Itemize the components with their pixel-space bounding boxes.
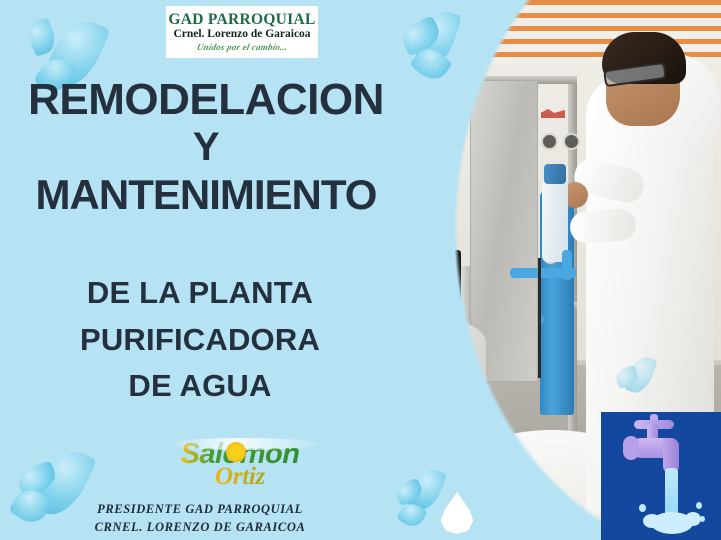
- water-splash-pool: [651, 512, 693, 534]
- page-subtitle: DE LA PLANTA PURIFICADORA DE AGUA: [0, 270, 400, 410]
- splash-blob: [15, 460, 60, 497]
- water-drop: [700, 516, 705, 522]
- panel-label: [541, 109, 565, 118]
- faucet-cap: [623, 436, 639, 460]
- title-line-1: REMODELACION: [28, 75, 384, 124]
- gad-logo: GAD PARROQUIAL Crnel. Lorenzo de Garaico…: [166, 6, 318, 58]
- title-line-3: MANTENIMIENTO: [0, 174, 412, 217]
- logo-title: GAD PARROQUIAL: [168, 12, 315, 28]
- blue-fitting: [562, 250, 572, 280]
- title-line-2: Y: [0, 127, 412, 168]
- subtitle-line-3: DE AGUA: [0, 363, 400, 410]
- sun-icon: [226, 442, 246, 462]
- poster-canvas: GAD PARROQUIAL Crnel. Lorenzo de Garaico…: [0, 0, 721, 540]
- subtitle-line-1: DE LA PLANTA: [0, 270, 400, 317]
- signature-last-name: Ortiz: [140, 463, 340, 491]
- subtitle-line-2: PURIFICADORA: [0, 317, 400, 364]
- white-tank: [400, 318, 486, 468]
- caption: PRESIDENTE GAD PARROQUIAL CRNEL. LORENZO…: [0, 500, 400, 536]
- page-title: REMODELACION Y MANTENIMIENTO: [0, 78, 412, 217]
- hose: [538, 258, 541, 378]
- logo-tagline: Unidos por el cambio...: [196, 42, 289, 52]
- salomon-ortiz-logo: Salomon Ortiz: [140, 440, 340, 498]
- logo-subtitle: Crnel. Lorenzo de Garaicoa: [173, 28, 310, 41]
- caption-line-2: CRNEL. LORENZO DE GARAICOA: [0, 518, 400, 536]
- gauge-icon: [541, 133, 558, 150]
- arm-lower: [569, 208, 637, 245]
- splash-blob: [25, 17, 58, 57]
- faucet-badge: [601, 412, 721, 540]
- bottle-cap: [544, 164, 566, 184]
- water-drop: [696, 502, 702, 509]
- water-drop: [639, 504, 646, 512]
- caption-line-1: PRESIDENTE GAD PARROQUIAL: [0, 500, 400, 518]
